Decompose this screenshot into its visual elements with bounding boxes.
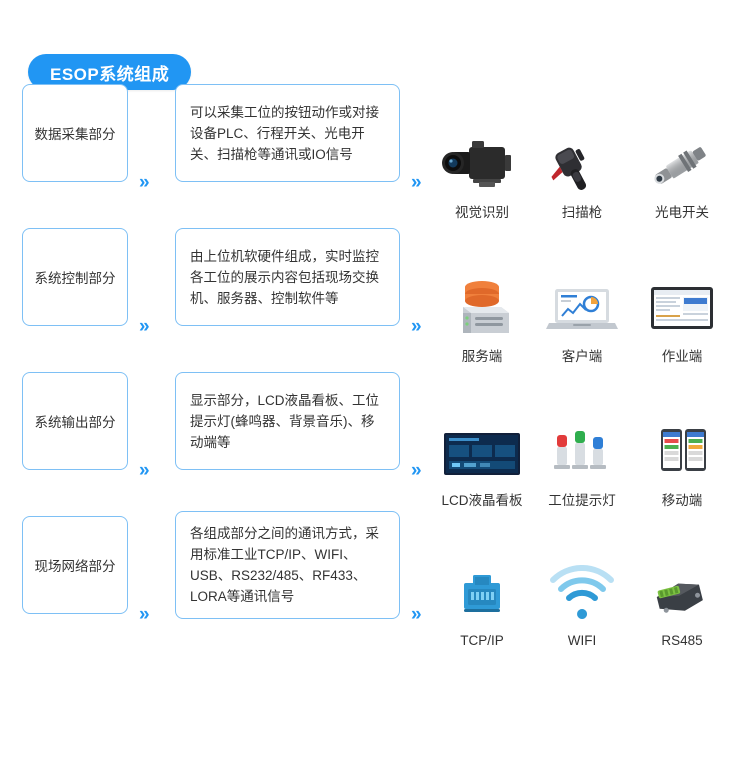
list-item: RS485	[632, 565, 732, 663]
description-box: 由上位机软硬件组成，实时监控各工位的展示内容包括现场交换机、服务器、控制软件等	[175, 228, 400, 326]
rs485-connector-icon	[639, 565, 725, 627]
arrow-icon: »	[411, 173, 419, 192]
photoelectric-switch-icon	[639, 133, 725, 195]
item-label: RS485	[661, 633, 702, 648]
description-box: 可以采集工位的按钮动作或对接设备PLC、行程开关、光电开关、扫描枪等通讯或IO信…	[175, 84, 400, 182]
arrow-icon: »	[411, 461, 419, 480]
category-box: 系统输出部分	[22, 372, 128, 470]
arrow-icon: »	[139, 317, 147, 336]
list-item: 视觉识别	[432, 133, 532, 231]
item-list: LCD液晶看板	[432, 421, 732, 519]
arrow-icon: »	[411, 605, 419, 624]
list-item: 扫描枪	[532, 133, 632, 231]
wifi-icon	[539, 565, 625, 627]
arrow-icon: »	[411, 317, 419, 336]
list-item: LCD液晶看板	[432, 421, 532, 519]
arrow-icon: »	[139, 461, 147, 480]
list-item: WIFI	[532, 565, 632, 663]
list-item: 客户端	[532, 277, 632, 375]
item-label: 光电开关	[655, 201, 709, 221]
category-box: 系统控制部分	[22, 228, 128, 326]
arrow-icon: »	[139, 173, 147, 192]
category-box: 现场网络部分	[22, 516, 128, 614]
item-label: WIFI	[568, 633, 597, 648]
list-item: TCP/IP	[432, 565, 532, 663]
tablet-icon	[639, 277, 725, 339]
item-label: 服务端	[462, 345, 503, 365]
list-item: 服务端	[432, 277, 532, 375]
item-list: TCP/IP WIFI	[432, 565, 732, 663]
andon-light-icon	[539, 421, 625, 483]
list-item: 工位提示灯	[532, 421, 632, 519]
item-label: 作业端	[662, 345, 703, 365]
barcode-scanner-icon	[539, 133, 625, 195]
item-label: 工位提示灯	[548, 489, 616, 509]
item-label: 客户端	[562, 345, 603, 365]
item-list: 服务端 客户端	[432, 277, 732, 375]
description-box: 各组成部分之间的通讯方式，采用标准工业TCP/IP、WIFI、USB、RS232…	[175, 511, 400, 619]
item-list: 视觉识别 扫描枪	[432, 133, 732, 231]
industrial-camera-icon	[439, 133, 525, 195]
description-box: 显示部分，LCD液晶看板、工位提示灯(蜂鸣器、背景音乐)、移动端等	[175, 372, 400, 470]
item-label: LCD液晶看板	[441, 489, 522, 509]
item-label: 扫描枪	[562, 201, 603, 221]
list-item: 光电开关	[632, 133, 732, 231]
mobile-phones-icon	[639, 421, 725, 483]
list-item: 移动端	[632, 421, 732, 519]
item-label: 移动端	[662, 489, 703, 509]
laptop-icon	[539, 277, 625, 339]
list-item: 作业端	[632, 277, 732, 375]
ethernet-port-icon	[439, 565, 525, 627]
arrow-icon: »	[139, 605, 147, 624]
item-label: TCP/IP	[460, 633, 504, 648]
item-label: 视觉识别	[455, 201, 509, 221]
category-box: 数据采集部分	[22, 84, 128, 182]
server-icon	[439, 277, 525, 339]
lcd-display-icon	[436, 421, 528, 483]
